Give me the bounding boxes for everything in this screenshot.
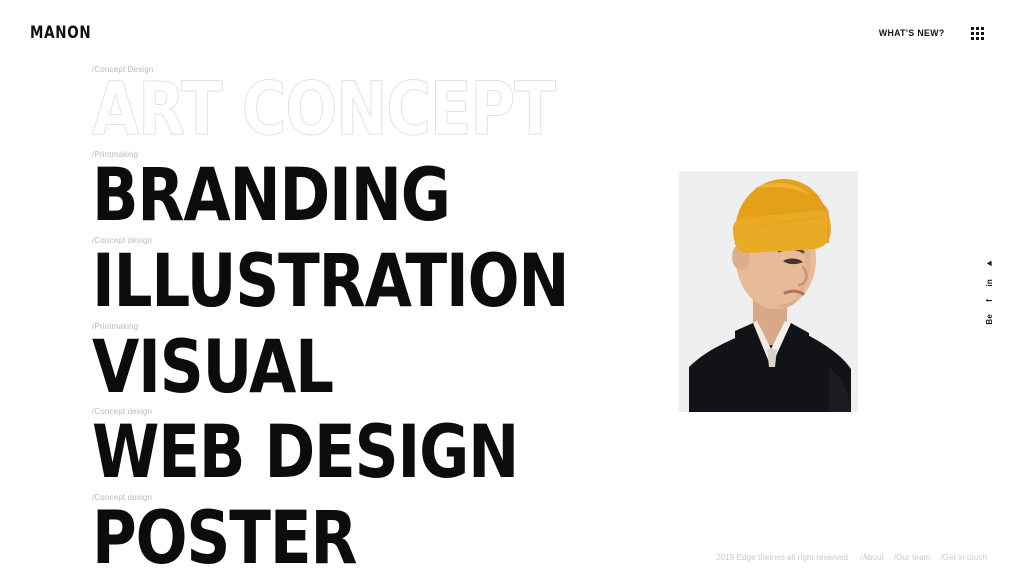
- service-title[interactable]: BRANDING: [92, 166, 669, 226]
- linkedin-icon[interactable]: in: [986, 279, 994, 287]
- service-item[interactable]: /Concept design WEB DESIGN: [92, 408, 712, 483]
- social-rail: ⯈ in f Be: [985, 258, 994, 324]
- twitter-icon[interactable]: ⯈: [985, 258, 994, 267]
- service-item[interactable]: /Concept design ILLUSTRATION: [92, 237, 712, 312]
- grid-dot: [981, 37, 984, 40]
- grid-dot: [976, 32, 979, 35]
- site-header: MANON WHAT'S NEW?: [0, 0, 1024, 66]
- grid-dot: [976, 37, 979, 40]
- grid-dot: [976, 27, 979, 30]
- service-title[interactable]: WEB DESIGN: [92, 423, 669, 483]
- service-title[interactable]: VISUAL: [92, 338, 669, 398]
- service-item[interactable]: /Printmaking BRANDING: [92, 151, 712, 226]
- site-footer: 2019 Edge themes all right reserved /Abo…: [716, 553, 987, 562]
- service-item[interactable]: /Concept Design ART CONCEPT: [92, 66, 712, 140]
- service-list: /Concept Design ART CONCEPT /Printmaking…: [92, 66, 712, 577]
- footer-link-get-in-touch[interactable]: /Get in touch: [940, 553, 987, 562]
- whats-new-link[interactable]: WHAT'S NEW?: [878, 28, 944, 39]
- footer-links: /About /Our team /Get in touch: [860, 553, 987, 562]
- grid-dot: [981, 32, 984, 35]
- grid-dot: [981, 27, 984, 30]
- service-title[interactable]: ILLUSTRATION: [92, 252, 669, 312]
- behance-icon[interactable]: Be: [986, 314, 994, 325]
- service-title[interactable]: POSTER: [92, 509, 669, 569]
- logo[interactable]: MANON: [30, 23, 91, 43]
- footer-link-about[interactable]: /About: [860, 553, 884, 562]
- facebook-icon[interactable]: f: [986, 299, 994, 302]
- landing-page: MANON WHAT'S NEW? /Concept Design ART CO…: [0, 0, 1024, 580]
- service-item[interactable]: /Concept design POSTER: [92, 494, 712, 569]
- header-right-group: WHAT'S NEW?: [876, 27, 984, 40]
- grid-dot: [971, 37, 974, 40]
- service-title[interactable]: ART CONCEPT: [92, 80, 669, 140]
- service-item[interactable]: /Printmaking VISUAL: [92, 323, 712, 398]
- grid-dot: [971, 32, 974, 35]
- footer-link-our-team[interactable]: /Our team: [894, 553, 930, 562]
- copyright-text: 2019 Edge themes all right reserved: [716, 553, 848, 562]
- grid-dot: [971, 27, 974, 30]
- grid-dots-icon[interactable]: [971, 27, 984, 40]
